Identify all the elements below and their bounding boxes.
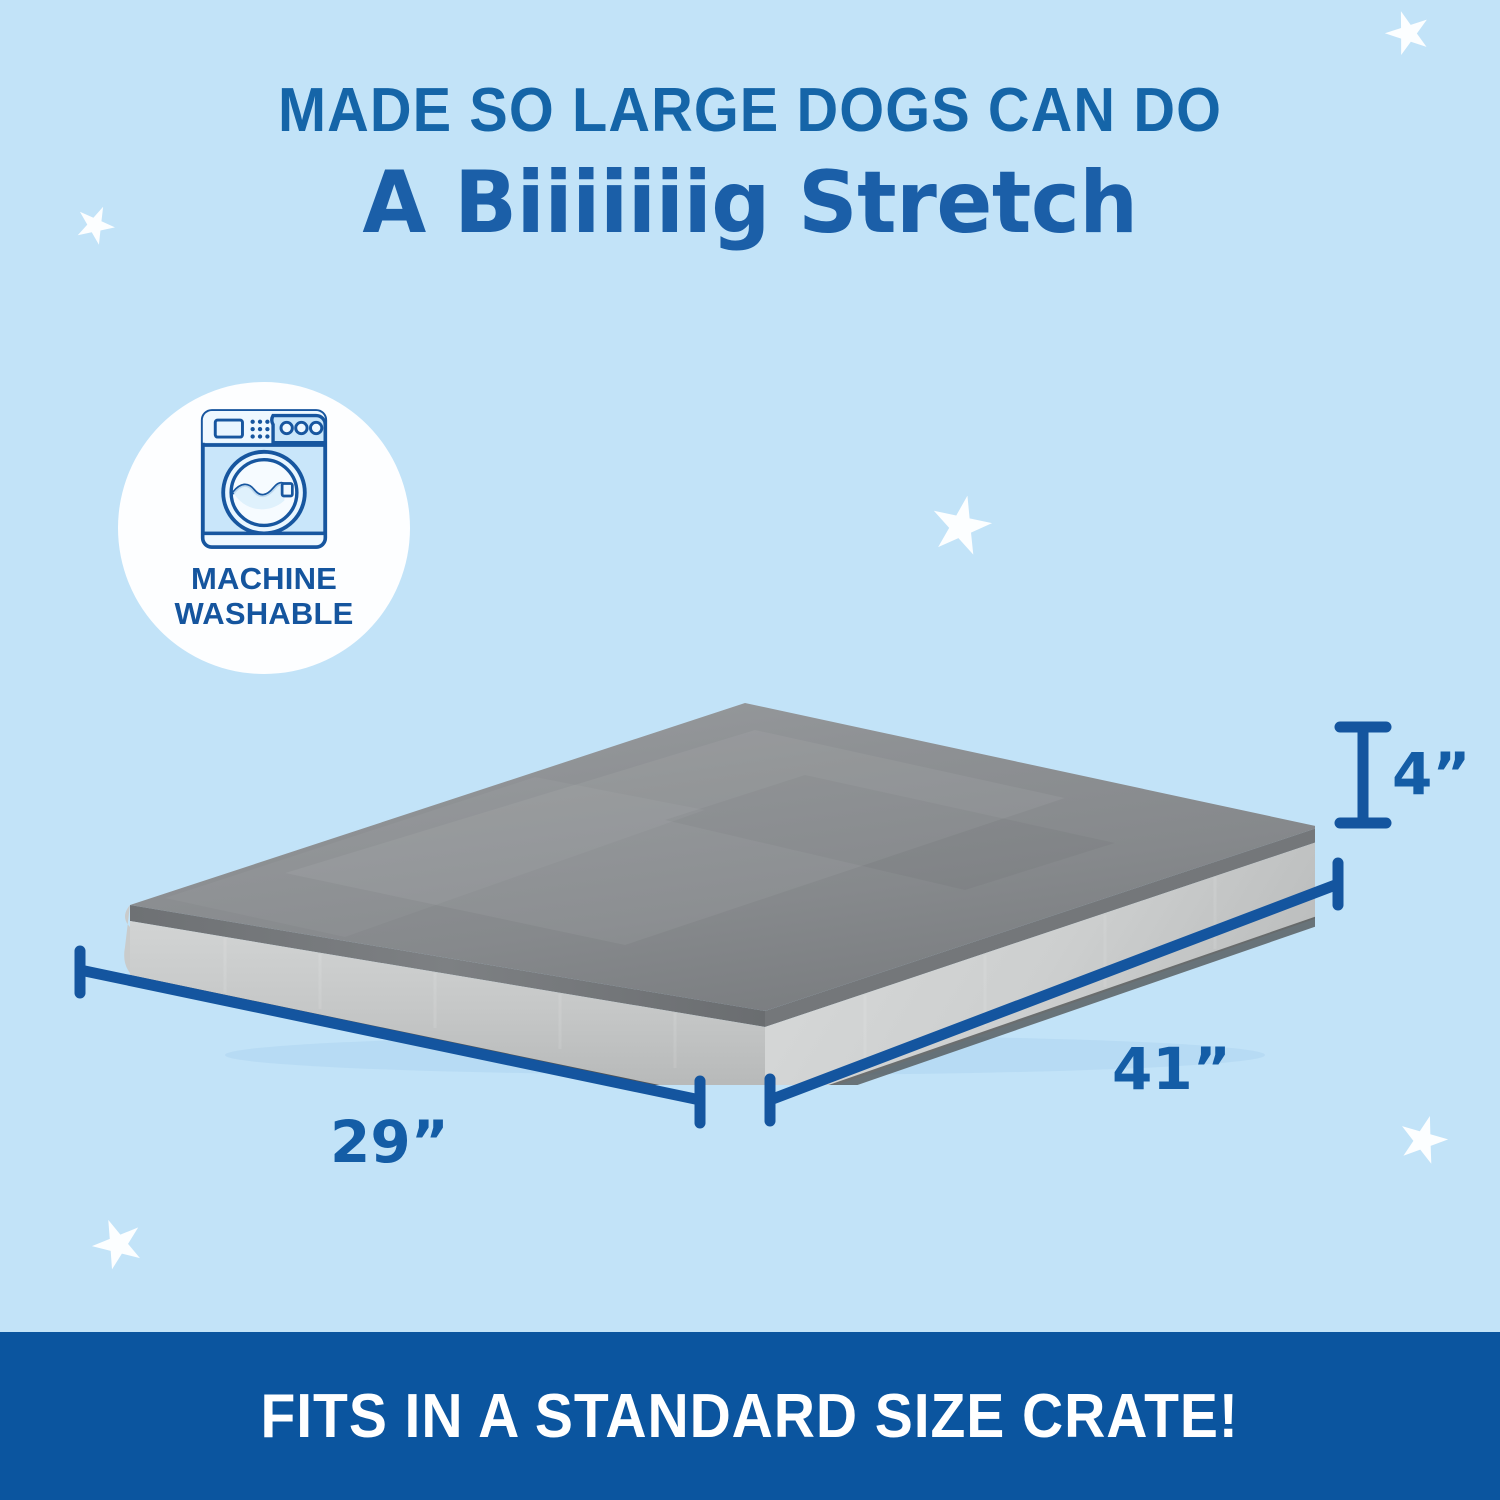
- badge-label-line2: WASHABLE: [175, 597, 354, 632]
- badge-label-line1: MACHINE: [175, 562, 354, 597]
- machine-washable-badge: MACHINE WASHABLE: [118, 382, 410, 674]
- product-marketing-image: MADE SO LARGE DOGS CAN DO A Biiiiiiig St…: [0, 0, 1500, 1500]
- headline-secondary: A Biiiiiiig Stretch: [30, 153, 1470, 254]
- dog-bed-product-image: [105, 655, 1315, 1085]
- headline-primary: MADE SO LARGE DOGS CAN DO: [53, 78, 1448, 143]
- decorative-star-icon: [924, 489, 998, 563]
- bottom-banner: FITS IN A STANDARD SIZE CRATE!: [0, 1332, 1500, 1500]
- height-dimension-label: 4”: [1392, 740, 1470, 808]
- machine-washable-label: MACHINE WASHABLE: [175, 562, 354, 631]
- decorative-star-icon: [1392, 1109, 1454, 1171]
- headline-block: MADE SO LARGE DOGS CAN DO A Biiiiiiig St…: [0, 78, 1500, 255]
- length-dimension-label: 41”: [1112, 1035, 1231, 1103]
- width-dimension-label: 29”: [330, 1108, 449, 1176]
- washing-machine-icon: [196, 404, 332, 554]
- banner-text: FITS IN A STANDARD SIZE CRATE!: [261, 1381, 1239, 1452]
- decorative-star-icon: [84, 1210, 152, 1278]
- decorative-star-icon: [1379, 4, 1437, 62]
